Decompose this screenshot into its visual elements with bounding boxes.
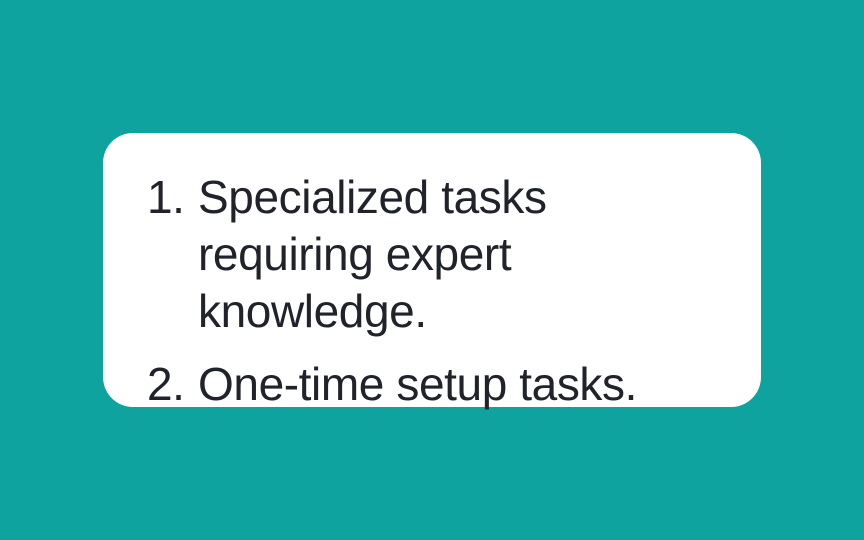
content-card: 1. Specialized tasks requiring expert kn… xyxy=(103,133,761,407)
list-item: 2. One-time setup tasks. xyxy=(147,356,719,413)
list-item-text: Specialized tasks requiring expert knowl… xyxy=(198,169,719,340)
list-item-marker: 2. xyxy=(147,356,191,413)
list-item: 1. Specialized tasks requiring expert kn… xyxy=(147,169,719,340)
ordered-list: 1. Specialized tasks requiring expert kn… xyxy=(147,169,719,413)
list-item-text: One-time setup tasks. xyxy=(198,356,719,413)
slide-canvas: 1. Specialized tasks requiring expert kn… xyxy=(0,0,864,540)
list-item-marker: 1. xyxy=(147,169,191,226)
